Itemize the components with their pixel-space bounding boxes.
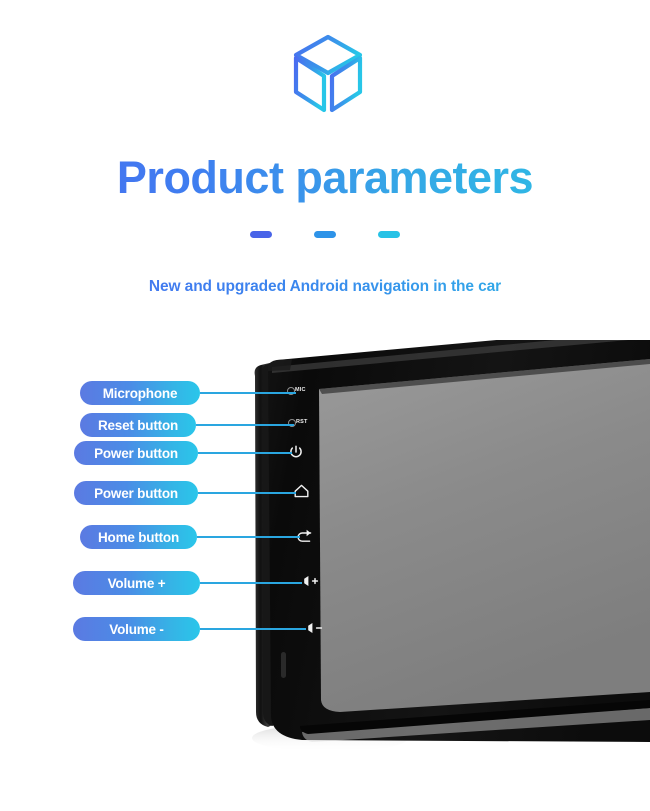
- callout-volume-up[interactable]: Volume +: [73, 571, 302, 595]
- divider-dash-1: [250, 231, 272, 238]
- leader-line: [200, 628, 306, 630]
- callout-power-button-2[interactable]: Power button: [74, 481, 296, 505]
- callout-label-microphone[interactable]: Microphone: [80, 381, 200, 405]
- callout-power-button[interactable]: Power button: [74, 441, 292, 465]
- leader-line: [197, 536, 300, 538]
- callout-volume-down[interactable]: Volume -: [73, 617, 306, 641]
- callout-home-button[interactable]: Home button: [80, 525, 300, 549]
- divider-dash-3: [378, 231, 400, 238]
- cube-box-icon: [288, 30, 368, 118]
- callout-label-volume-up[interactable]: Volume +: [73, 571, 200, 595]
- header-section: Product parameters New and upgraded Andr…: [0, 0, 650, 340]
- page-title: Product parameters: [0, 152, 650, 204]
- leader-line: [196, 424, 294, 426]
- callout-label-power-button[interactable]: Power button: [74, 441, 198, 465]
- leader-line: [200, 392, 296, 394]
- divider-dashes: [0, 231, 650, 238]
- callout-label-home-button[interactable]: Home button: [80, 525, 197, 549]
- callout-label-volume-down[interactable]: Volume -: [73, 617, 200, 641]
- leader-line: [198, 492, 296, 494]
- leader-line: [200, 582, 302, 584]
- page-subtitle: New and upgraded Android navigation in t…: [0, 278, 650, 296]
- callout-reset-button[interactable]: Reset button: [80, 413, 294, 437]
- callout-list: Microphone Reset button Power button Pow…: [0, 340, 650, 806]
- callout-label-reset-button[interactable]: Reset button: [80, 413, 196, 437]
- product-diagram: MIC RST: [0, 340, 650, 806]
- callout-microphone[interactable]: Microphone: [80, 381, 296, 405]
- callout-label-power-button-2[interactable]: Power button: [74, 481, 198, 505]
- leader-line: [198, 452, 292, 454]
- divider-dash-2: [314, 231, 336, 238]
